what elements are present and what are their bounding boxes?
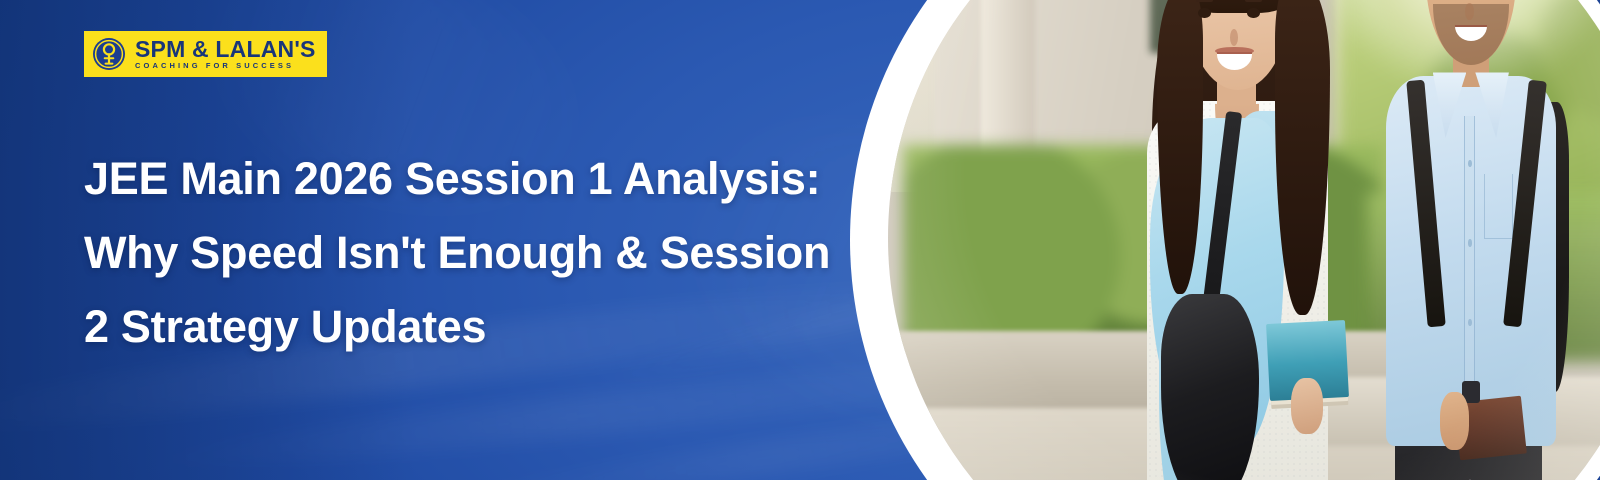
promo-banner: SPM & LALAN'S COACHING FOR SUCCESS JEE M… — [0, 0, 1600, 480]
female-hand — [1291, 378, 1323, 434]
headline-line-1: JEE Main 2026 Session 1 Analysis: — [84, 142, 984, 216]
male-shirt-button-1 — [1468, 160, 1472, 167]
students-photo — [888, 0, 1600, 480]
male-shirt-pocket — [1484, 174, 1513, 239]
female-nose — [1230, 29, 1238, 46]
brand-logo[interactable]: SPM & LALAN'S COACHING FOR SUCCESS — [84, 31, 327, 77]
female-brow-left — [1196, 0, 1213, 2]
brand-tagline: COACHING FOR SUCCESS — [135, 62, 316, 70]
torch-emblem-icon — [92, 37, 126, 71]
headline-line-3: 2 Strategy Updates — [84, 290, 984, 364]
female-eye-right — [1247, 8, 1260, 19]
headline-line-2: Why Speed Isn't Enough & Session — [84, 216, 984, 290]
female-student — [1120, 0, 1352, 480]
banner-headline: JEE Main 2026 Session 1 Analysis: Why Sp… — [84, 142, 984, 364]
male-student — [1359, 0, 1583, 480]
brand-name: SPM & LALAN'S — [135, 38, 316, 61]
students-photo-scene — [888, 0, 1600, 480]
male-hand — [1440, 392, 1469, 450]
female-brow-right — [1245, 0, 1262, 2]
female-shoulder-bag — [1161, 294, 1258, 480]
male-shirt-button-2 — [1468, 239, 1472, 246]
banner-artwork — [940, 0, 1600, 480]
male-shirt-button-3 — [1468, 319, 1472, 326]
brand-logo-text: SPM & LALAN'S COACHING FOR SUCCESS — [135, 38, 316, 70]
